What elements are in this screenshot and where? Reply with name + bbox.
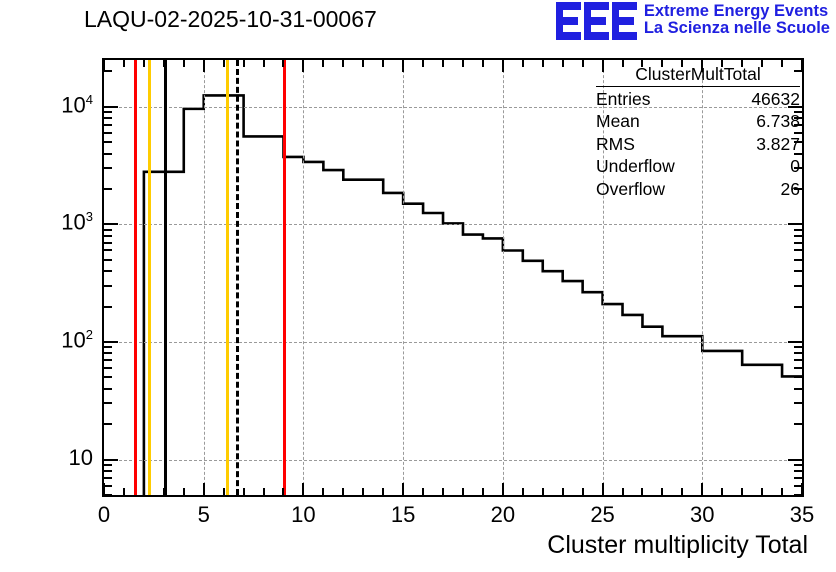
y-minor-tick (104, 306, 112, 308)
y-minor-tick-right (794, 346, 802, 348)
x-gridline (303, 60, 304, 495)
stats-key-entries: Entries (596, 89, 650, 110)
y-minor-tick (104, 359, 112, 361)
x-major-tick-top (302, 60, 304, 72)
x-axis-tick-label: 15 (373, 502, 433, 528)
y-minor-tick (104, 259, 112, 261)
y-minor-tick-right (794, 167, 802, 169)
x-major-tick-top (602, 60, 604, 72)
x-major-tick (203, 483, 205, 495)
y-minor-tick (104, 70, 112, 72)
y-minor-tick-right (794, 423, 802, 425)
y-major-tick (104, 106, 118, 108)
x-minor-tick-top (282, 60, 284, 67)
y-minor-tick-right (794, 111, 802, 113)
x-major-tick-top (402, 60, 404, 72)
y-minor-tick (104, 229, 112, 231)
y-gridline (104, 342, 802, 343)
y-minor-tick (104, 153, 112, 155)
x-minor-tick (422, 488, 424, 495)
y-minor-tick-right (794, 235, 802, 237)
y-minor-tick (104, 423, 112, 425)
x-minor-tick (163, 488, 165, 495)
x-minor-tick-top (382, 60, 384, 67)
x-minor-tick (342, 488, 344, 495)
x-major-tick-top (701, 60, 703, 72)
y-axis-tick-label: 104 (61, 92, 93, 118)
x-major-tick (602, 483, 604, 495)
x-major-tick (701, 483, 703, 495)
y-gridline (104, 224, 802, 225)
x-minor-tick (143, 488, 145, 495)
y-minor-tick (104, 388, 112, 390)
x-major-tick-top (203, 60, 205, 72)
x-minor-tick (462, 488, 464, 495)
x-minor-tick-top (163, 60, 165, 67)
y-minor-tick-right (794, 285, 802, 287)
x-minor-tick-top (243, 60, 245, 67)
y-minor-tick-right (794, 402, 802, 404)
y-minor-tick-right (794, 376, 802, 378)
y-minor-tick (104, 485, 112, 487)
y-minor-tick-right (794, 141, 802, 143)
x-minor-tick-top (622, 60, 624, 67)
x-major-tick (502, 483, 504, 495)
x-minor-tick (482, 488, 484, 495)
stats-value-rms: 3.827 (756, 134, 800, 155)
x-major-tick (302, 483, 304, 495)
x-minor-tick (123, 488, 125, 495)
x-minor-tick (681, 488, 683, 495)
y-minor-tick-right (794, 188, 802, 190)
y-minor-tick (104, 376, 112, 378)
y-minor-tick (104, 167, 112, 169)
y-minor-tick (104, 367, 112, 369)
marker-line-red-low-threshold (134, 60, 137, 495)
y-minor-tick-right (794, 306, 802, 308)
y-minor-tick-right (794, 259, 802, 261)
x-minor-tick-top (641, 60, 643, 67)
y-major-tick (104, 341, 118, 343)
x-minor-tick (223, 488, 225, 495)
stats-row-underflow: Underflow 0 (596, 155, 800, 178)
x-minor-tick (542, 488, 544, 495)
x-minor-tick-top (123, 60, 125, 67)
eee-logo-letter-e1 (556, 2, 581, 40)
marker-line-gold-lower (148, 60, 151, 495)
y-minor-tick (104, 242, 112, 244)
x-minor-tick (661, 488, 663, 495)
y-minor-tick (104, 270, 112, 272)
x-axis-tick-label: 20 (473, 502, 533, 528)
x-minor-tick-top (462, 60, 464, 67)
x-minor-tick-top (322, 60, 324, 67)
stats-key-underflow: Underflow (596, 156, 675, 177)
y-minor-tick (104, 124, 112, 126)
y-minor-tick (104, 249, 112, 251)
y-major-tick-right (788, 459, 802, 461)
x-minor-tick-top (781, 60, 783, 67)
x-minor-tick-top (661, 60, 663, 67)
y-axis-tick-label: 10 (69, 445, 93, 471)
eee-logo-line-1: Extreme Energy Events (644, 3, 830, 20)
x-major-tick (402, 483, 404, 495)
stats-row-entries: Entries 46632 (596, 87, 800, 110)
x-minor-tick-top (582, 60, 584, 67)
y-minor-tick (104, 141, 112, 143)
stats-value-mean: 6.738 (756, 111, 800, 132)
y-minor-tick-right (794, 485, 802, 487)
y-minor-tick-right (794, 464, 802, 466)
marker-line-gold-upper (226, 60, 229, 495)
x-minor-tick-top (422, 60, 424, 67)
x-axis-title: Cluster multiplicity Total (547, 531, 808, 560)
x-minor-tick-top (542, 60, 544, 67)
x-minor-tick-top (143, 60, 145, 67)
x-minor-tick-top (681, 60, 683, 67)
x-minor-tick (562, 488, 564, 495)
x-minor-tick-top (482, 60, 484, 67)
stats-box-title: ClusterMultTotal (596, 64, 800, 87)
x-minor-tick-top (263, 60, 265, 67)
x-minor-tick-top (342, 60, 344, 67)
x-minor-tick (282, 488, 284, 495)
y-gridline (104, 460, 802, 461)
y-minor-tick (104, 477, 112, 479)
y-minor-tick (104, 117, 112, 119)
stats-row-overflow: Overflow 26 (596, 177, 800, 200)
root-canvas: LAQU-02-2025-10-31-00067 Extreme Energy … (0, 0, 836, 572)
eee-logo-text: Extreme Energy Events La Scienza nelle S… (644, 2, 830, 38)
eee-logo-line-2: La Scienza nelle Scuole (644, 20, 830, 37)
stats-key-overflow: Overflow (596, 179, 665, 200)
y-minor-tick-right (794, 249, 802, 251)
x-minor-tick-top (442, 60, 444, 67)
x-major-tick-top (502, 60, 504, 72)
x-minor-tick-top (761, 60, 763, 67)
y-minor-tick-right (794, 153, 802, 155)
eee-logo-letter-e3 (612, 2, 637, 40)
x-axis-tick-label: 35 (772, 502, 832, 528)
x-minor-tick-top (741, 60, 743, 67)
stats-key-mean: Mean (596, 111, 640, 132)
x-minor-tick (641, 488, 643, 495)
x-minor-tick-top (721, 60, 723, 67)
y-minor-tick-right (794, 132, 802, 134)
x-minor-tick (721, 488, 723, 495)
y-minor-tick (104, 494, 112, 496)
x-axis-tick-label: 30 (672, 502, 732, 528)
y-minor-tick-right (794, 242, 802, 244)
y-minor-tick (104, 352, 112, 354)
x-gridline (204, 60, 205, 495)
x-gridline (503, 60, 504, 495)
x-gridline (403, 60, 404, 495)
x-minor-tick-top (223, 60, 225, 67)
x-minor-tick (781, 488, 783, 495)
y-axis-tick-label: 102 (61, 327, 93, 353)
x-minor-tick (322, 488, 324, 495)
y-axis-tick-label: 103 (61, 209, 93, 235)
y-major-tick-right (788, 223, 802, 225)
y-minor-tick (104, 346, 112, 348)
y-minor-tick (104, 111, 112, 113)
x-minor-tick (442, 488, 444, 495)
x-minor-tick (741, 488, 743, 495)
x-axis-tick-label: 25 (573, 502, 633, 528)
x-minor-tick (243, 488, 245, 495)
x-axis-tick-label: 10 (273, 502, 333, 528)
y-major-tick (104, 459, 118, 461)
x-minor-tick-top (183, 60, 185, 67)
x-minor-tick (263, 488, 265, 495)
y-minor-tick-right (794, 229, 802, 231)
stats-row-mean: Mean 6.738 (596, 110, 800, 133)
y-minor-tick-right (794, 388, 802, 390)
y-minor-tick-right (794, 70, 802, 72)
y-minor-tick-right (794, 477, 802, 479)
x-minor-tick (362, 488, 364, 495)
y-major-tick (104, 223, 118, 225)
y-minor-tick (104, 235, 112, 237)
stats-row-rms: RMS 3.827 (596, 132, 800, 155)
y-minor-tick-right (794, 494, 802, 496)
x-minor-tick-top (522, 60, 524, 67)
eee-logo: Extreme Energy Events La Scienza nelle S… (556, 2, 830, 40)
y-minor-tick (104, 285, 112, 287)
y-minor-tick-right (794, 359, 802, 361)
y-minor-tick (104, 188, 112, 190)
y-minor-tick-right (794, 124, 802, 126)
y-minor-tick-right (794, 470, 802, 472)
x-minor-tick (183, 488, 185, 495)
y-minor-tick (104, 132, 112, 134)
y-minor-tick-right (794, 117, 802, 119)
page-title: LAQU-02-2025-10-31-00067 (84, 6, 377, 33)
y-minor-tick (104, 464, 112, 466)
eee-logo-mark (556, 2, 637, 40)
x-minor-tick (382, 488, 384, 495)
y-minor-tick-right (794, 270, 802, 272)
x-minor-tick (761, 488, 763, 495)
x-minor-tick-top (562, 60, 564, 67)
x-minor-tick (622, 488, 624, 495)
marker-line-black-low-cut (164, 60, 167, 495)
x-minor-tick (522, 488, 524, 495)
y-major-tick-right (788, 106, 802, 108)
stats-box: ClusterMultTotal Entries 46632 Mean 6.73… (596, 64, 800, 200)
x-axis-tick-label: 0 (74, 502, 134, 528)
y-major-tick-right (788, 341, 802, 343)
marker-line-red-high-threshold (283, 60, 286, 495)
x-axis-tick-label: 5 (174, 502, 234, 528)
eee-logo-letter-e2 (584, 2, 609, 40)
y-minor-tick (104, 402, 112, 404)
y-minor-tick (104, 470, 112, 472)
x-minor-tick (582, 488, 584, 495)
y-minor-tick-right (794, 352, 802, 354)
marker-line-mean-dashed (236, 60, 239, 495)
x-minor-tick-top (362, 60, 364, 67)
stats-key-rms: RMS (596, 134, 635, 155)
y-minor-tick-right (794, 367, 802, 369)
